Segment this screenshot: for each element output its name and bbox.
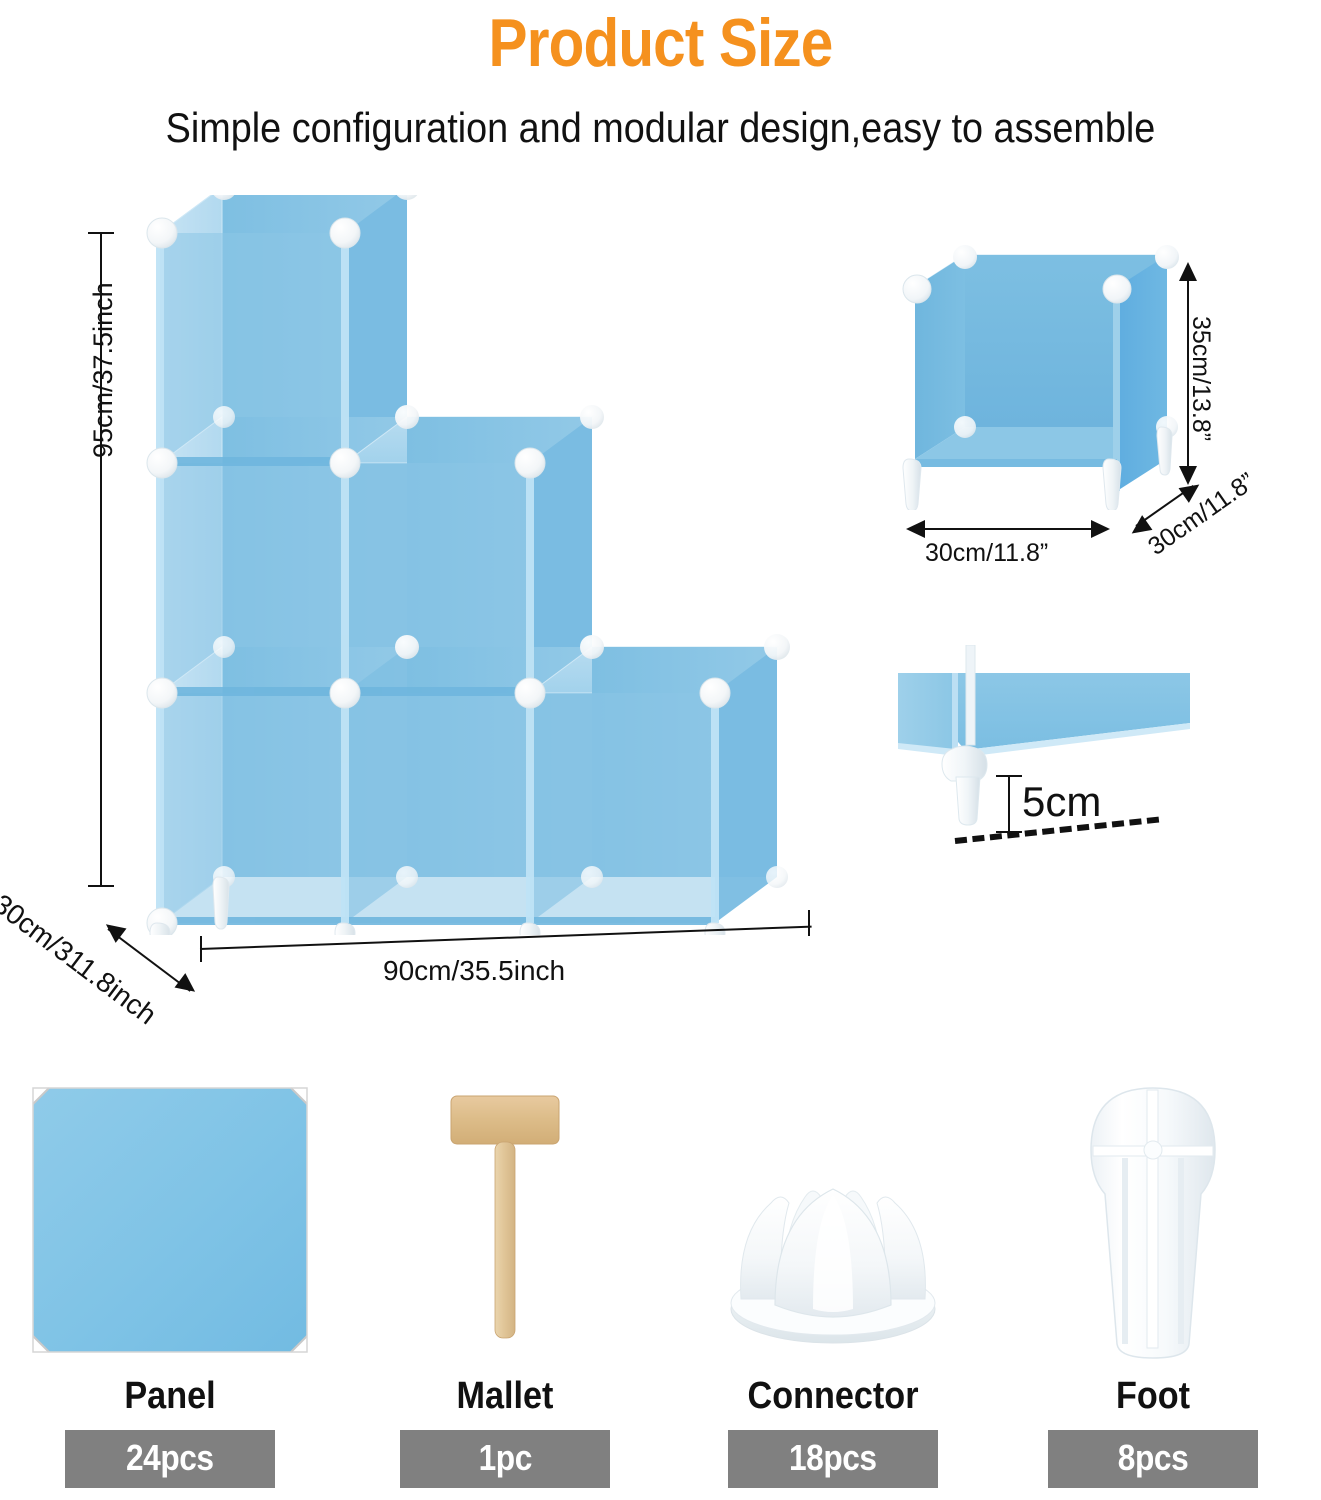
page-subtitle: Simple configuration and modular design,… [66,104,1255,152]
panel-art [5,1075,335,1365]
part-label: Foot [1005,1375,1302,1418]
mallet-icon [405,1082,605,1358]
cube-width-label: 30cm/11.8” [925,539,1048,568]
main-height-tick-top [88,232,114,234]
part-count-badge: 1pc [400,1430,610,1488]
part-label: Panel [22,1375,319,1418]
foot-height-label: 5cm [1022,778,1101,826]
part-count-text: 18pcs [789,1437,877,1479]
foot-height-dimension-line [1008,775,1010,833]
part-foot: Foot 8pcs [988,1075,1318,1500]
part-count-text: 1pc [478,1437,531,1479]
part-count-badge: 18pcs [728,1430,938,1488]
cube-width-dimension-line [915,528,1100,530]
main-width-tick-right [808,910,810,936]
foot-height-tick-top [996,775,1022,777]
part-count-badge: 24pcs [65,1430,275,1488]
main-unit-illustration [105,195,865,935]
part-panel: Panel 24pcs [5,1075,335,1500]
cube-width-arrow-left [906,520,925,538]
part-count-badge: 8pcs [1048,1430,1258,1488]
panel-icon [25,1082,315,1358]
parts-legend: Panel 24pcs Ma [0,1075,1321,1500]
page-title: Product Size [92,4,1228,82]
main-height-tick-bottom [88,885,114,887]
foot-art [988,1075,1318,1365]
part-count-text: 24pcs [126,1437,214,1479]
main-depth-arrow-end [174,973,200,999]
cube-width-arrow-right [1091,520,1110,538]
main-width-tick-left [200,936,202,962]
part-label: Mallet [357,1375,654,1418]
product-size-infographic: Product Size Simple configuration and mo… [0,0,1321,1500]
main-width-label: 90cm/35.5inch [383,955,565,987]
part-label: Connector [685,1375,982,1418]
single-cube-illustration [895,245,1205,510]
cube-height-arrow-top [1179,262,1197,281]
part-count-text: 8pcs [1118,1437,1188,1479]
connector-icon [713,1159,953,1359]
connector-art [668,1075,998,1365]
mallet-art [340,1075,670,1365]
main-height-label: 95cm/37.5inch [88,282,119,458]
part-mallet: Mallet 1pc [340,1075,670,1500]
cube-height-label: 35cm/13.8” [1186,316,1215,441]
foot-icon [1063,1080,1243,1360]
part-connector: Connector 18pcs [668,1075,998,1500]
